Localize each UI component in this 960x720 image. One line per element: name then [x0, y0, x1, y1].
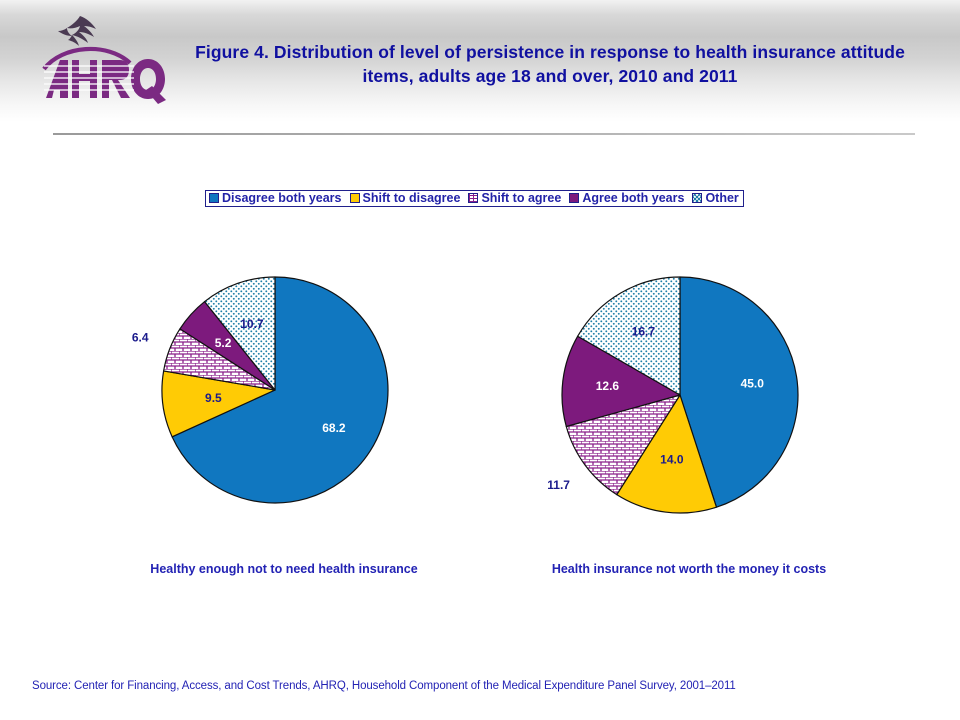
pie-caption-left: Healthy enough not to need health insura…	[138, 562, 430, 576]
legend-swatch-brick-icon	[468, 193, 478, 203]
legend-label: Shift to disagree	[363, 192, 461, 205]
header-lower-white-band	[0, 122, 960, 152]
pie-chart-right-svg: 45.014.011.712.616.7	[525, 255, 845, 555]
pie-caption-right: Health insurance not worth the money it …	[538, 562, 840, 576]
pie-slice-value-label: 10.7	[240, 317, 264, 331]
legend-item-shift-to-disagree[interactable]: Shift to disagree	[350, 192, 461, 205]
hhs-eagle-icon	[58, 16, 96, 46]
legend-label: Agree both years	[582, 192, 684, 205]
pie-slice-value-label: 6.4	[132, 331, 149, 345]
header-divider	[53, 133, 915, 135]
legend-item-disagree-both-years[interactable]: Disagree both years	[209, 192, 342, 205]
charts-area: 68.29.56.45.210.7 45.014.011.712.616.7	[0, 255, 960, 565]
legend-label: Disagree both years	[222, 192, 342, 205]
legend-swatch-blue-icon	[209, 193, 219, 203]
legend-label: Shift to agree	[481, 192, 561, 205]
ahrq-logo-svg	[34, 6, 174, 106]
pie-slice-value-label: 9.5	[205, 391, 222, 405]
legend-item-other[interactable]: Other	[692, 192, 738, 205]
pie-slice-value-label: 5.2	[215, 336, 232, 350]
pie-slice-value-label: 68.2	[322, 421, 346, 435]
source-note: Source: Center for Financing, Access, an…	[32, 680, 736, 692]
page-title: Figure 4. Distribution of level of persi…	[180, 40, 920, 88]
legend-label: Other	[705, 192, 738, 205]
pie-slice-value-label: 12.6	[596, 379, 620, 393]
chart-legend: Disagree both years Shift to disagree Sh…	[205, 190, 744, 207]
ahrq-logo	[34, 6, 174, 106]
pie-chart-not-worth-money[interactable]: 45.014.011.712.616.7	[525, 255, 845, 555]
pie-slice-value-label: 45.0	[741, 377, 765, 391]
pie-chart-left-svg: 68.29.56.45.210.7	[115, 255, 435, 555]
legend-item-shift-to-agree[interactable]: Shift to agree	[468, 192, 561, 205]
pie-right-slices	[562, 277, 798, 513]
pie-left-slices	[162, 277, 388, 503]
pie-slice-value-label: 14.0	[660, 452, 684, 466]
legend-swatch-purple-icon	[569, 193, 579, 203]
legend-swatch-gold-icon	[350, 193, 360, 203]
legend-swatch-dot-icon	[692, 193, 702, 203]
pie-chart-healthy-enough[interactable]: 68.29.56.45.210.7	[115, 255, 435, 555]
pie-slice-value-label: 16.7	[632, 325, 656, 339]
pie-slice-value-label: 11.7	[547, 478, 570, 492]
legend-item-agree-both-years[interactable]: Agree both years	[569, 192, 684, 205]
